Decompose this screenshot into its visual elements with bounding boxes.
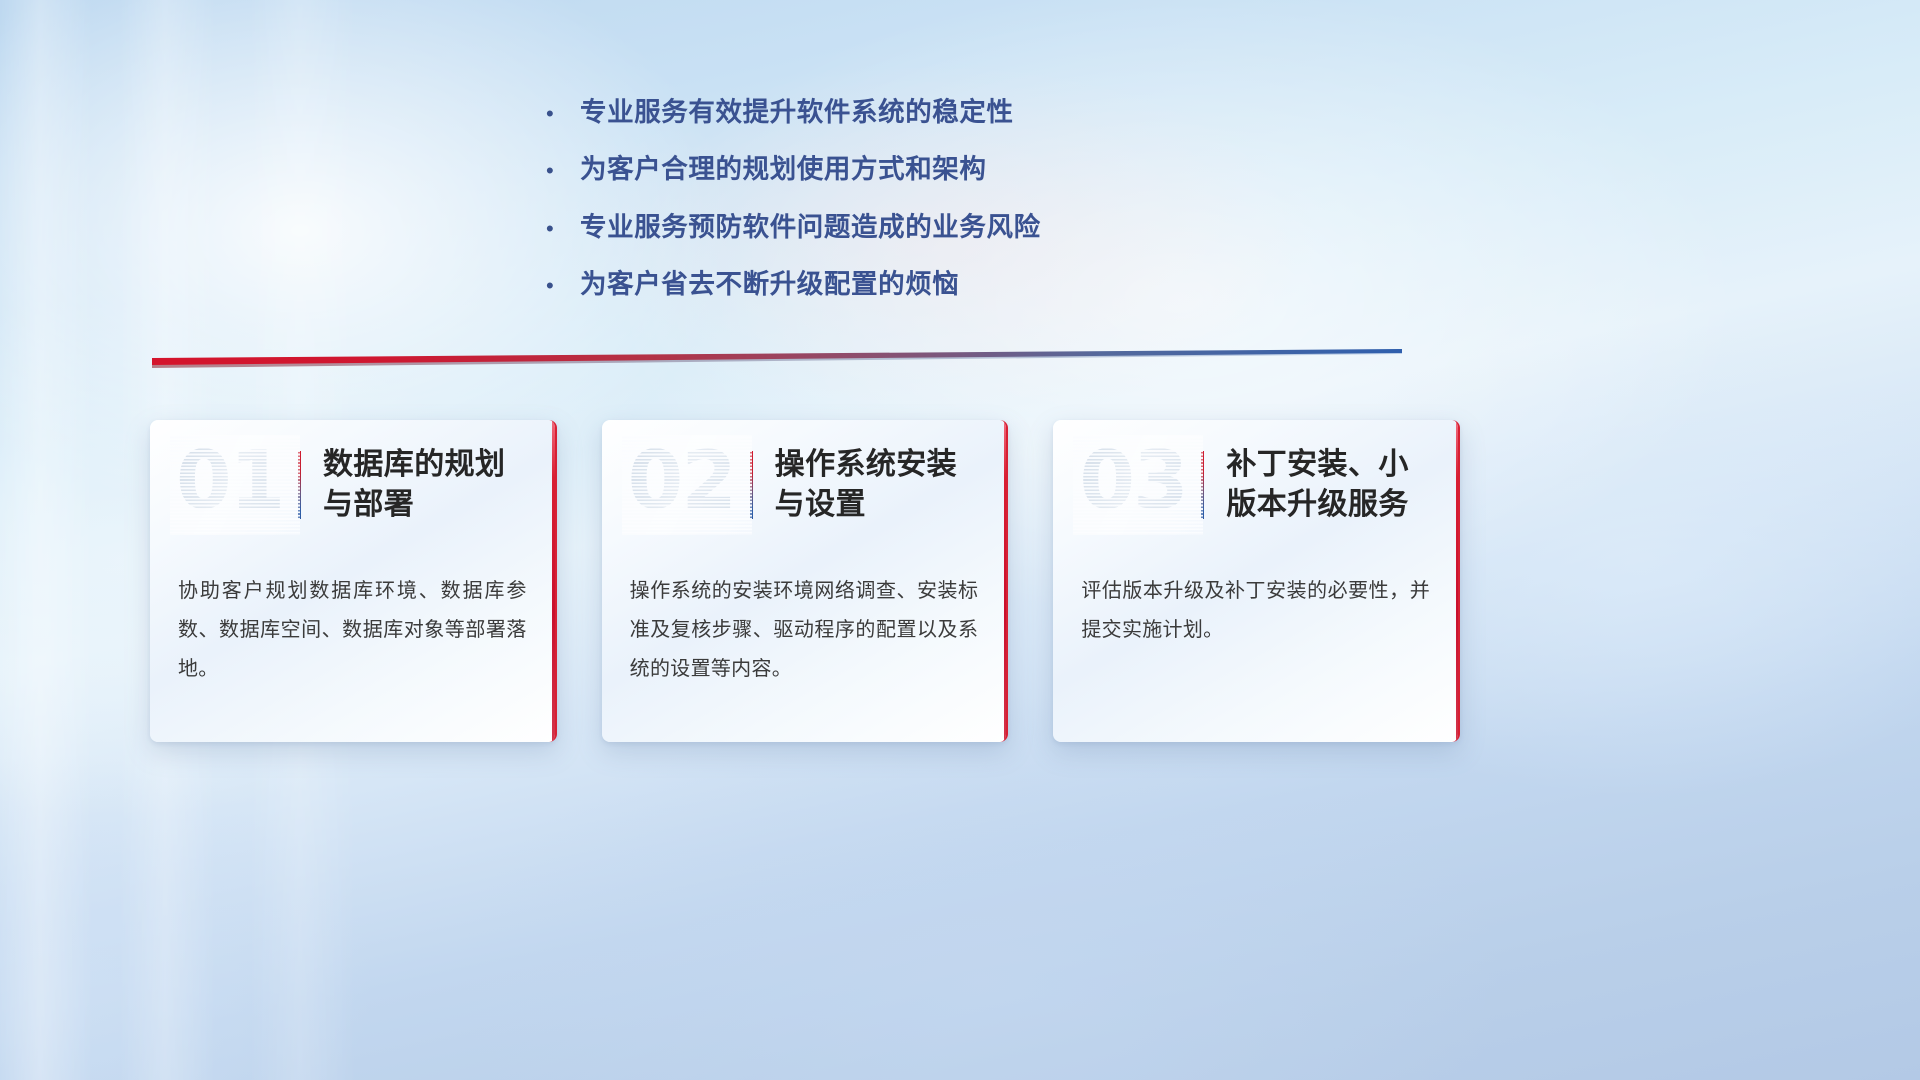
card-header: 02 操作系统安装 与设置 bbox=[602, 420, 1007, 550]
card-description: 协助客户规划数据库环境、数据库参数、数据库空间、数据库对象等部署落地。 bbox=[150, 550, 555, 689]
card-title: 操作系统安装 与设置 bbox=[775, 445, 957, 525]
bullet-dot-icon: • bbox=[540, 160, 580, 182]
card-number-badge: 02 bbox=[628, 443, 736, 527]
list-item: • 为客户合理的规划使用方式和架构 bbox=[540, 152, 1440, 186]
card-accent-bar bbox=[1201, 451, 1204, 519]
tapered-divider bbox=[152, 344, 1402, 370]
bullet-text: 专业服务预防软件问题造成的业务风险 bbox=[580, 210, 1041, 244]
card-header: 01 数据库的规划 与部署 bbox=[150, 420, 555, 550]
bullet-text: 为客户省去不断升级配置的烦恼 bbox=[580, 267, 959, 301]
slide-canvas: • 专业服务有效提升软件系统的稳定性 • 为客户合理的规划使用方式和架构 • 专… bbox=[0, 0, 1920, 1080]
card-number: 02 bbox=[628, 439, 735, 523]
service-card[interactable]: 01 数据库的规划 与部署 协助客户规划数据库环境、数据库参数、数据库空间、数据… bbox=[150, 420, 557, 742]
bullet-dot-icon: • bbox=[540, 275, 580, 297]
card-accent-bar bbox=[298, 451, 301, 519]
card-title: 补丁安装、小 版本升级服务 bbox=[1226, 445, 1408, 525]
card-number-badge: 01 bbox=[176, 443, 284, 527]
service-card-list: 01 数据库的规划 与部署 协助客户规划数据库环境、数据库参数、数据库空间、数据… bbox=[150, 420, 1460, 750]
list-item: • 为客户省去不断升级配置的烦恼 bbox=[540, 267, 1440, 301]
bullet-text: 专业服务有效提升软件系统的稳定性 bbox=[580, 95, 1014, 129]
service-card[interactable]: 03 补丁安装、小 版本升级服务 评估版本升级及补丁安装的必要性，并提交实施计划… bbox=[1053, 420, 1460, 742]
card-number-badge: 03 bbox=[1079, 443, 1187, 527]
card-title: 数据库的规划 与部署 bbox=[323, 445, 505, 525]
card-number: 03 bbox=[1079, 439, 1186, 523]
benefits-bullet-list: • 专业服务有效提升软件系统的稳定性 • 为客户合理的规划使用方式和架构 • 专… bbox=[540, 95, 1440, 325]
list-item: • 专业服务有效提升软件系统的稳定性 bbox=[540, 95, 1440, 129]
bullet-text: 为客户合理的规划使用方式和架构 bbox=[580, 152, 987, 186]
bullet-dot-icon: • bbox=[540, 103, 580, 125]
list-item: • 专业服务预防软件问题造成的业务风险 bbox=[540, 210, 1440, 244]
service-card[interactable]: 02 操作系统安装 与设置 操作系统的安装环境网络调查、安装标准及复核步骤、驱动… bbox=[602, 420, 1009, 742]
bullet-dot-icon: • bbox=[540, 218, 580, 240]
card-number: 01 bbox=[176, 439, 283, 523]
card-description: 操作系统的安装环境网络调查、安装标准及复核步骤、驱动程序的配置以及系统的设置等内… bbox=[602, 550, 1007, 689]
card-accent-bar bbox=[750, 451, 753, 519]
card-header: 03 补丁安装、小 版本升级服务 bbox=[1053, 420, 1458, 550]
card-description: 评估版本升级及补丁安装的必要性，并提交实施计划。 bbox=[1053, 550, 1458, 650]
